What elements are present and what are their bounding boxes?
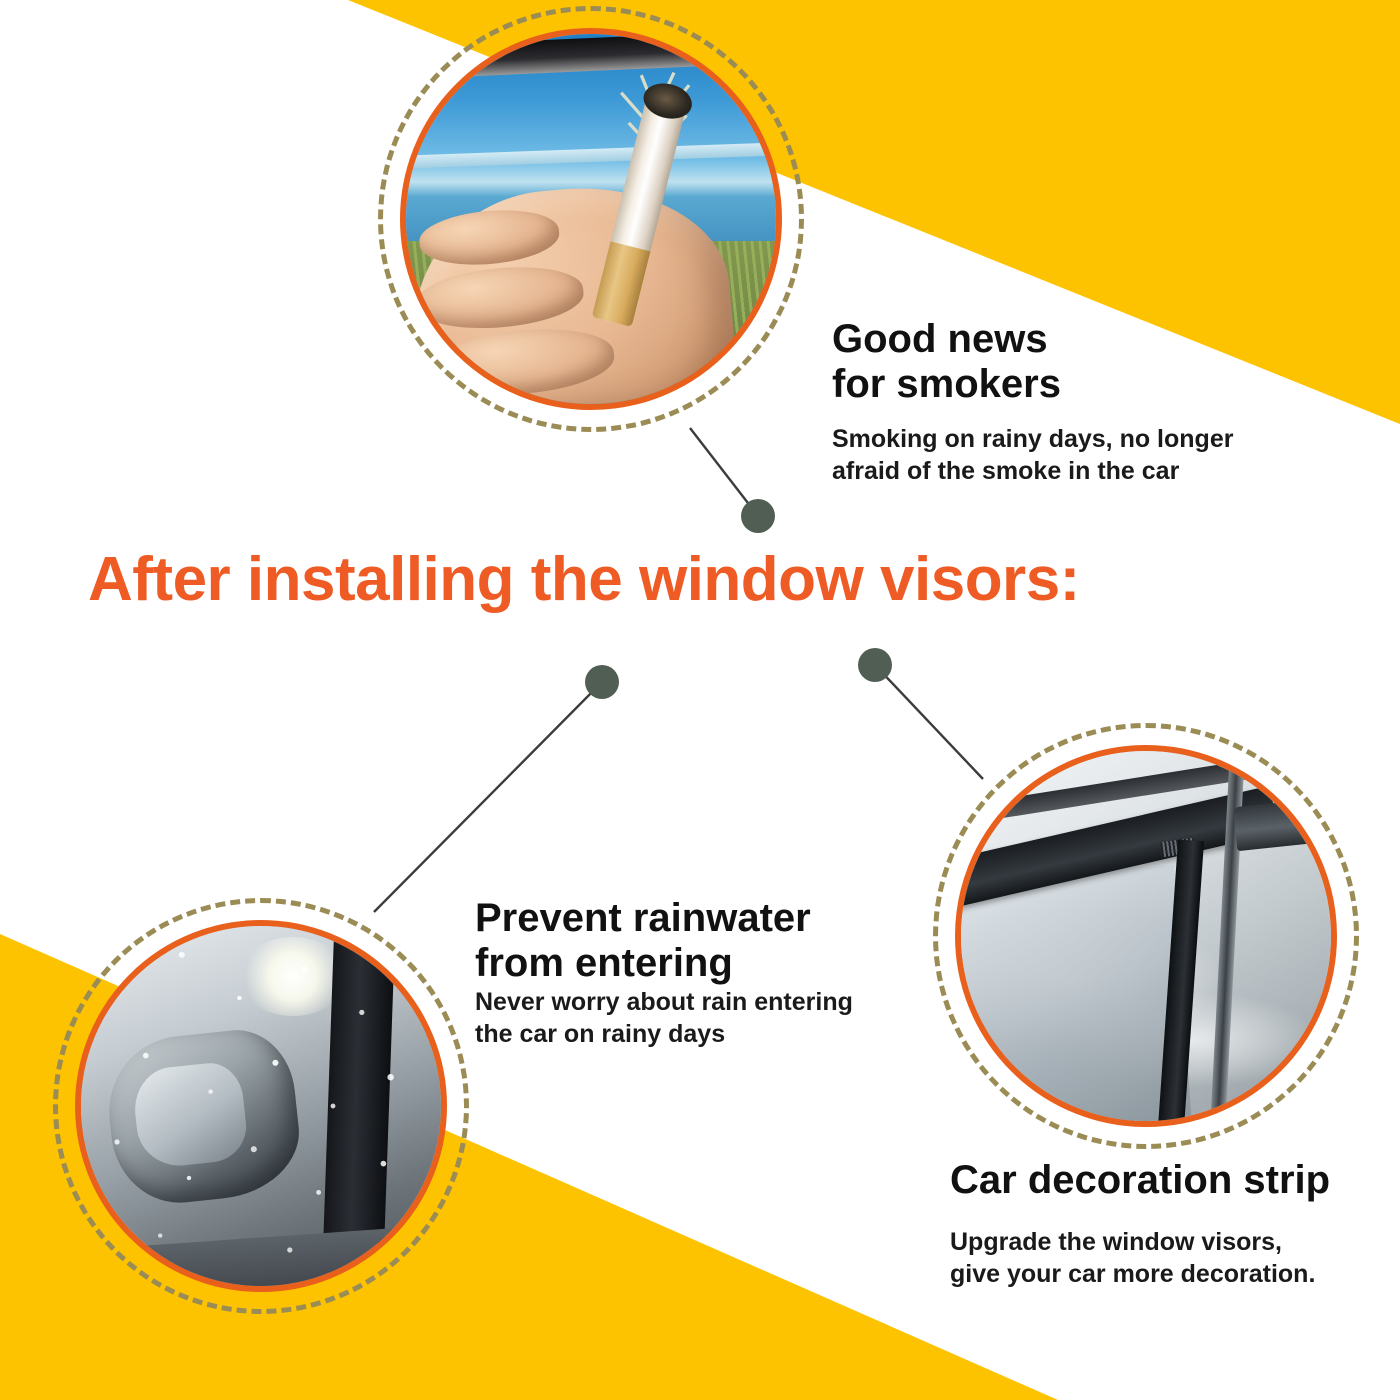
car-door-handle [1233,799,1319,852]
connector-dot-decoration [858,648,892,682]
photo-rainwater [75,920,447,1292]
car-window-glass [955,865,1192,1127]
feature-subtitle-rainwater: Never worry about rain entering the car … [475,986,853,1050]
feature-subtitle-decoration: Upgrade the window visors, give your car… [950,1226,1315,1290]
page-title: After installing the window visors: [88,544,1328,615]
feature-title-rainwater: Prevent rainwater from entering [475,896,811,986]
feature-title-smokers: Good news for smokers [832,317,1061,407]
leader-line-rainwater [374,682,602,912]
connector-dot-rainwater [585,665,619,699]
product-infographic: Good news for smokers Smoking on rainy d… [0,0,1400,1400]
raindrops [81,926,441,1286]
photo-smokers [400,28,782,410]
connector-dot-smokers [741,499,775,533]
finger [434,323,617,402]
finger [416,262,586,335]
photo-decoration [955,745,1337,1127]
feature-title-decoration: Car decoration strip [950,1158,1330,1203]
feature-subtitle-smokers: Smoking on rainy days, no longer afraid … [832,423,1233,487]
